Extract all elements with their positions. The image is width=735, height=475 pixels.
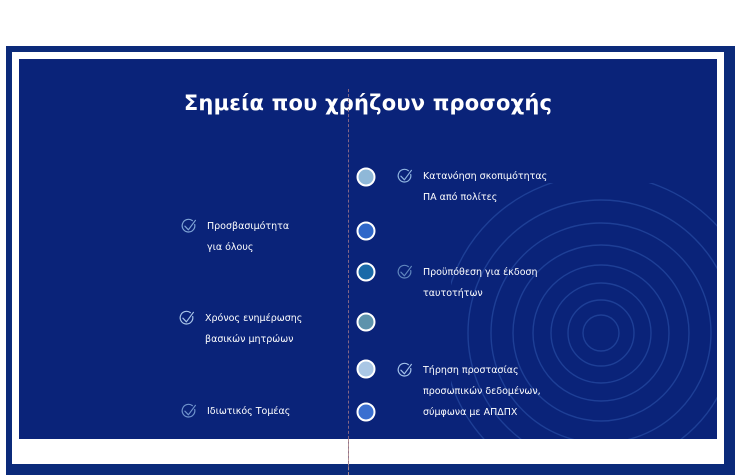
- timeline-item-label: Τήρηση προστασίας προσωπικών δεδομένων, …: [423, 360, 541, 423]
- timeline-item-label: Χρόνος ενημέρωσης βασικών μητρώων: [205, 308, 302, 350]
- check-circle-icon: [180, 217, 199, 236]
- timeline-dot[interactable]: [357, 360, 376, 379]
- timeline-dot[interactable]: [357, 263, 376, 282]
- timeline-dot[interactable]: [357, 222, 376, 241]
- slide-root: Σημεία που χρήζουν προσοχής Κατανόηση σκ…: [0, 0, 735, 475]
- check-circle-icon: [178, 309, 197, 328]
- timeline-item-label: Ιδιωτικός Τομέας: [207, 401, 290, 422]
- timeline-dot[interactable]: [357, 313, 376, 332]
- timeline-dot[interactable]: [357, 403, 376, 422]
- check-circle-icon: [396, 361, 415, 380]
- check-circle-icon: [396, 263, 415, 282]
- timeline-item[interactable]: Προσβασιμότητα για όλους: [180, 216, 289, 258]
- timeline-item-label: Προσβασιμότητα για όλους: [207, 216, 289, 258]
- timeline-dot[interactable]: [357, 168, 376, 187]
- timeline-item-label: Προϋπόθεση για έκδοση ταυτοτήτων: [423, 262, 538, 304]
- timeline-item[interactable]: Τήρηση προστασίας προσωπικών δεδομένων, …: [396, 360, 541, 423]
- timeline-item[interactable]: Κατανόηση σκοπιμότητας ΠΑ από πολίτες: [396, 166, 547, 208]
- check-circle-icon: [180, 402, 199, 421]
- check-circle-icon: [396, 167, 415, 186]
- page-title: Σημεία που χρήζουν προσοχής: [19, 91, 717, 115]
- timeline-item-label: Κατανόηση σκοπιμότητας ΠΑ από πολίτες: [423, 166, 547, 208]
- timeline-item[interactable]: Χρόνος ενημέρωσης βασικών μητρώων: [178, 308, 302, 350]
- timeline-axis-extension: [348, 439, 349, 475]
- timeline-item[interactable]: Ιδιωτικός Τομέας: [180, 401, 290, 422]
- timeline-item[interactable]: Προϋπόθεση για έκδοση ταυτοτήτων: [396, 262, 538, 304]
- timeline-axis: [348, 89, 349, 469]
- slide-panel: Σημεία που χρήζουν προσοχής: [19, 59, 717, 439]
